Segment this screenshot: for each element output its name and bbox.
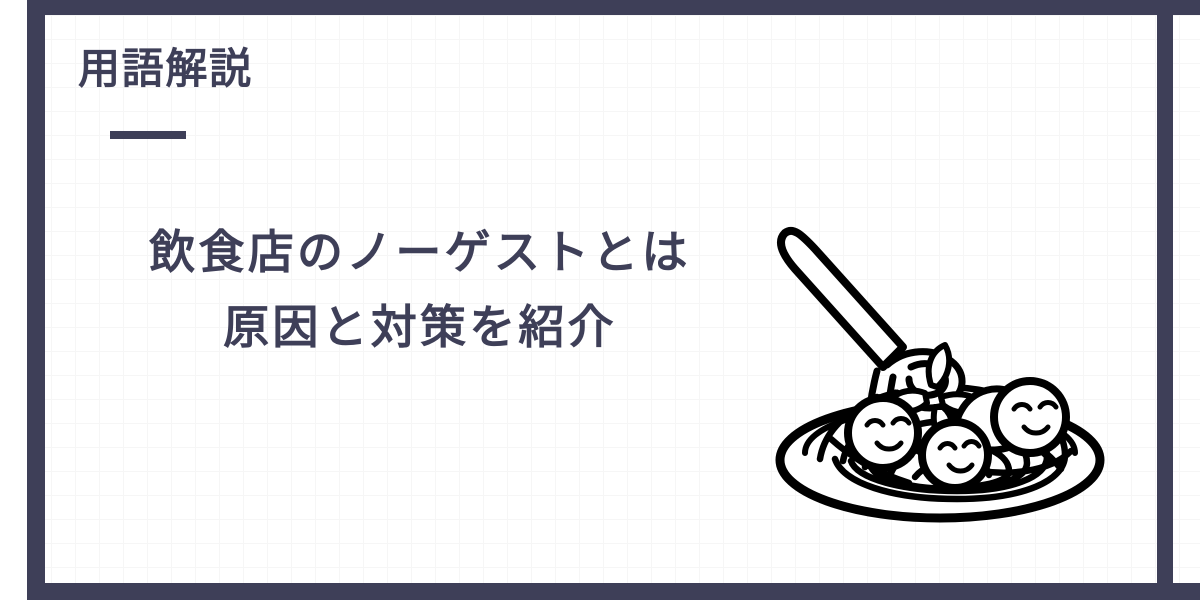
spaghetti-meatballs-illustration [765, 215, 1115, 545]
category-underline-rule [110, 131, 186, 139]
fork-icon [781, 231, 903, 367]
card-content: 用語解説 飲食店のノーゲストとは 原因と対策を紹介 [0, 0, 1200, 600]
page-title-line-2: 原因と対策を紹介 [60, 290, 780, 365]
meatball-center-icon [922, 422, 988, 488]
thumbnail-card: 用語解説 飲食店のノーゲストとは 原因と対策を紹介 [0, 0, 1200, 600]
page-title: 飲食店のノーゲストとは 原因と対策を紹介 [60, 215, 780, 364]
category-label: 用語解説 [78, 48, 253, 90]
page-title-line-1: 飲食店のノーゲストとは [60, 215, 780, 290]
meatball-right-icon [994, 381, 1066, 453]
meatball-left-icon [848, 398, 918, 468]
